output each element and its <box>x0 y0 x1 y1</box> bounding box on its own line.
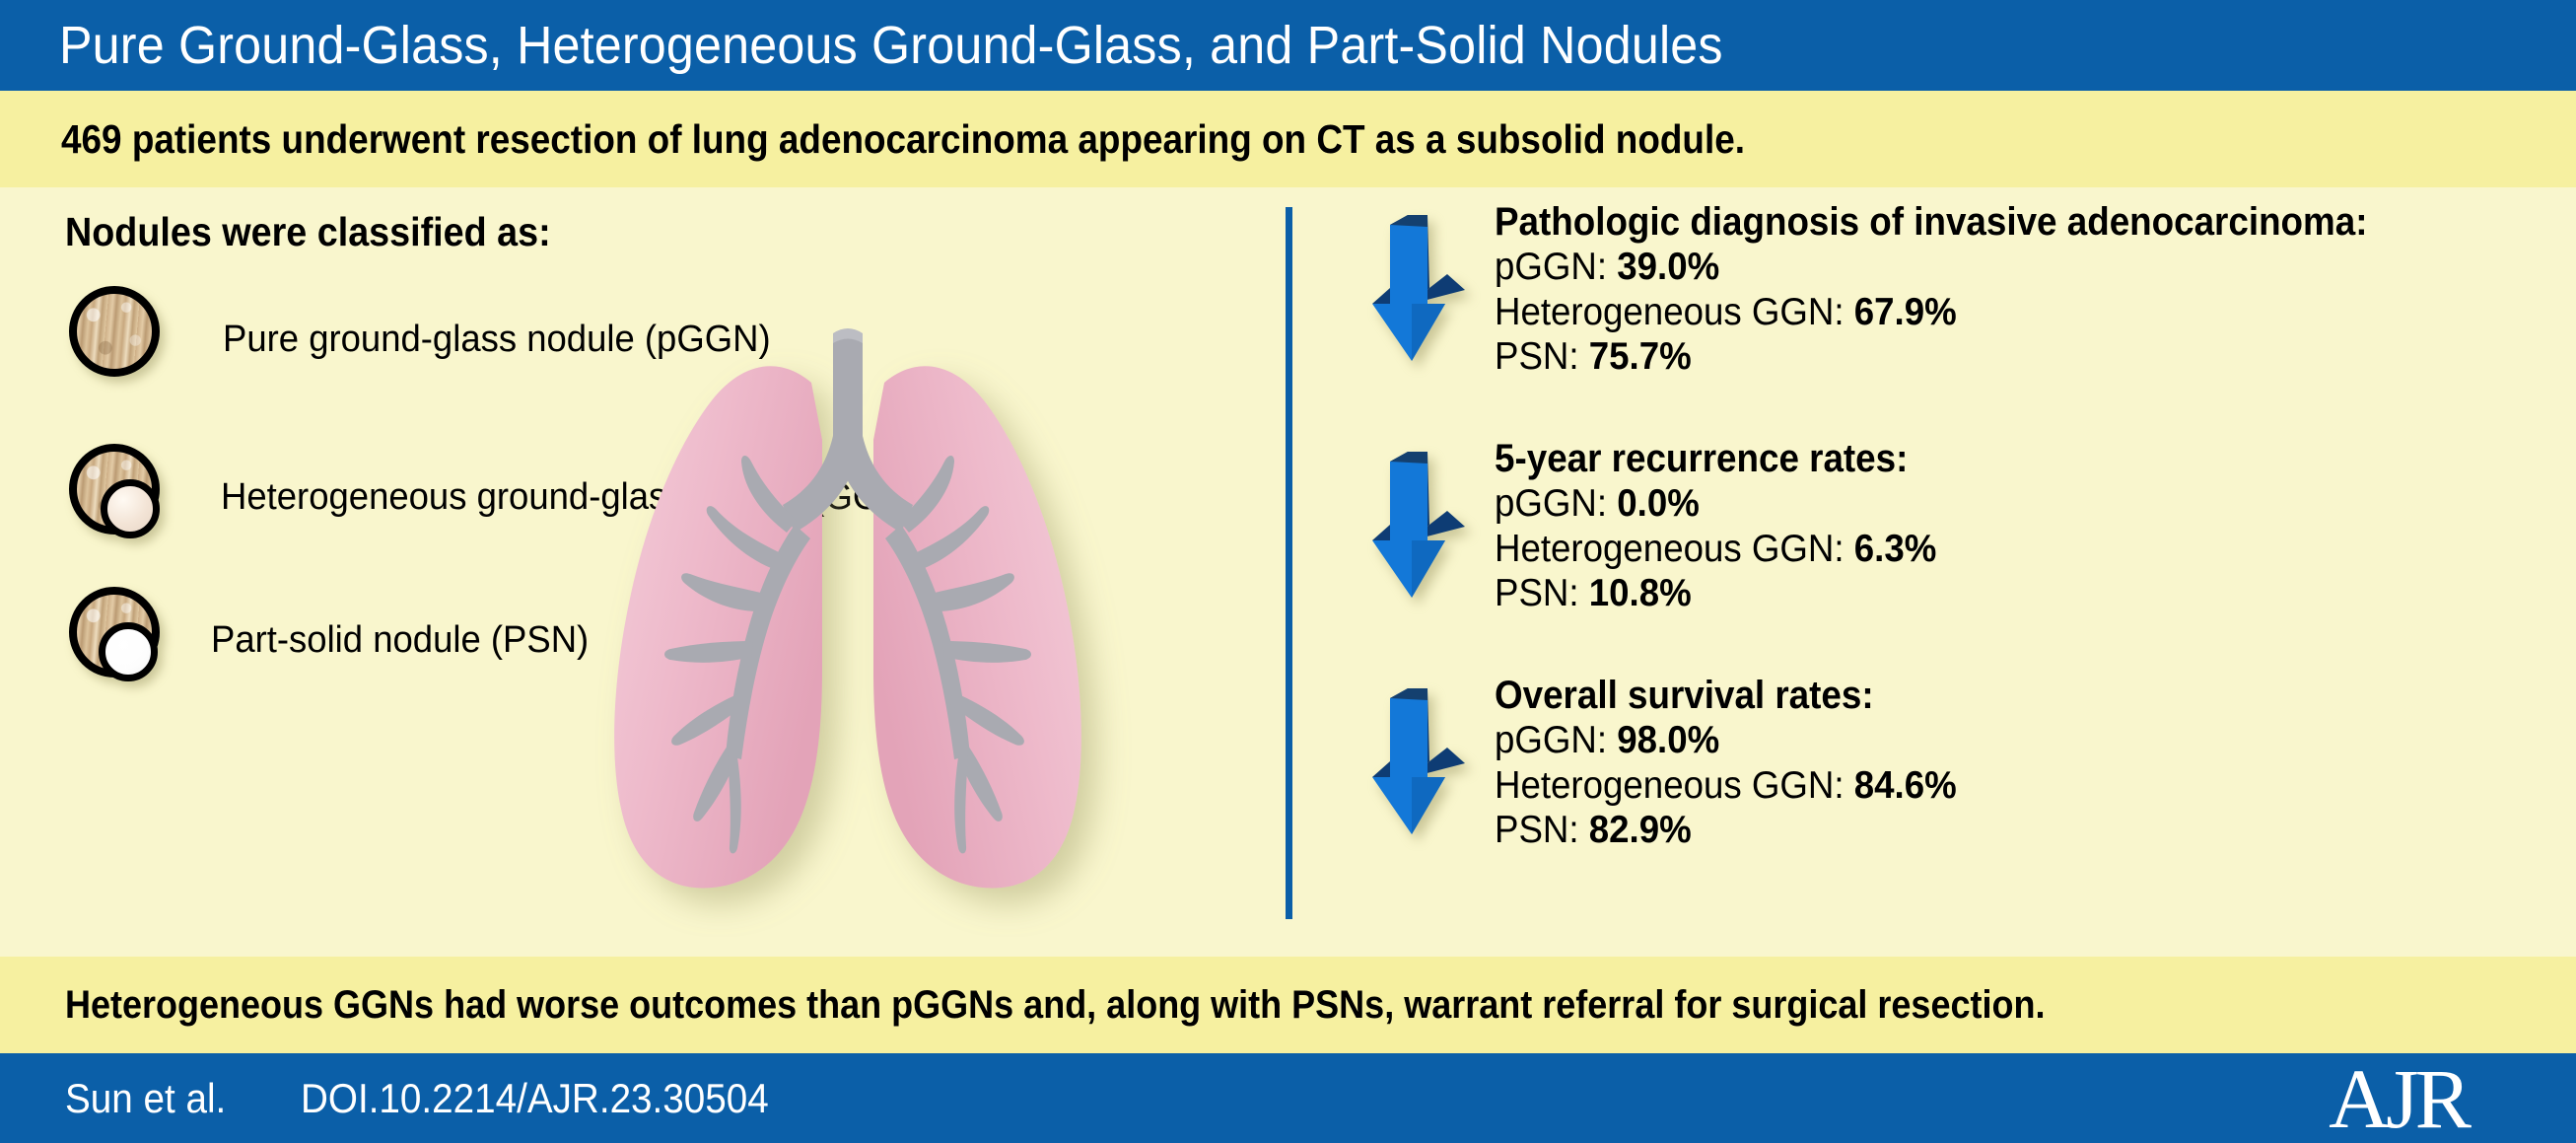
stat-row: pGGN: 98.0% <box>1495 718 1957 762</box>
list-item: Part-solid nodule (PSN) <box>69 587 604 693</box>
footer-doi[interactable]: DOI.10.2214/AJR.23.30504 <box>301 1075 769 1122</box>
stat-row: pGGN: 39.0% <box>1495 245 2387 289</box>
stat-row-value: 82.9% <box>1589 809 1692 851</box>
conclusion-band: Heterogeneous GGNs had worse outcomes th… <box>0 957 2576 1053</box>
right-column: Pathologic diagnosis of invasive adenoca… <box>1351 187 2534 957</box>
down-arrow-icon <box>1351 446 1469 604</box>
stat-row: Heterogeneous GGN: 84.6% <box>1495 763 1957 808</box>
stat-title: Pathologic diagnosis of invasive adenoca… <box>1495 199 2367 245</box>
stat-row-label: pGGN: <box>1495 246 1617 288</box>
stat-block: 5-year recurrence rates: pGGN: 0.0% Hete… <box>1351 436 1965 615</box>
stat-text-group: 5-year recurrence rates: pGGN: 0.0% Hete… <box>1495 436 1965 615</box>
stat-row: Heterogeneous GGN: 67.9% <box>1495 290 2387 334</box>
stat-row-value: 98.0% <box>1617 719 1719 761</box>
down-arrow-icon <box>1351 209 1469 367</box>
stat-text-group: Pathologic diagnosis of invasive adenoca… <box>1495 199 2443 379</box>
stat-row-label: PSN: <box>1495 572 1589 614</box>
stat-row: Heterogeneous GGN: 6.3% <box>1495 527 1936 571</box>
nodule-label: Pure ground-glass nodule (pGGN) <box>223 319 771 361</box>
stat-row: PSN: 82.9% <box>1495 808 1957 852</box>
patient-count: 469 <box>61 116 122 162</box>
heterogeneous-ground-glass-nodule-icon <box>69 444 175 550</box>
list-item: Heterogeneous ground-glass nodule (GGN) <box>69 444 947 550</box>
stat-title: 5-year recurrence rates: <box>1495 436 1927 481</box>
stat-block: Pathologic diagnosis of invasive adenoca… <box>1351 199 2443 379</box>
stat-row-label: pGGN: <box>1495 482 1617 525</box>
footer-authors: Sun et al. <box>65 1075 226 1122</box>
stat-title: Overall survival rates: <box>1495 673 1947 718</box>
stat-row-label: PSN: <box>1495 335 1589 378</box>
stat-row-value: 84.6% <box>1854 764 1957 807</box>
infographic-root: Pure Ground-Glass, Heterogeneous Ground-… <box>0 0 2576 1143</box>
part-solid-nodule-icon <box>69 587 175 693</box>
ajr-logo: AJR <box>2329 1056 2468 1141</box>
stat-row: pGGN: 0.0% <box>1495 481 1936 526</box>
stat-row-value: 67.9% <box>1854 291 1957 333</box>
main-content: Nodules were classified as: Pure ground-… <box>0 187 2576 957</box>
pure-ground-glass-nodule-icon <box>69 286 175 393</box>
stat-row-value: 10.8% <box>1589 572 1692 614</box>
nodule-solid-core <box>99 622 158 681</box>
footer-bar: Sun et al. DOI.10.2214/AJR.23.30504 AJR <box>0 1053 2576 1143</box>
study-population-text: 469 patients underwent resection of lung… <box>61 116 1745 163</box>
nodule-label: Heterogeneous ground-glass nodule (GGN) <box>221 476 919 519</box>
stat-row-value: 6.3% <box>1854 528 1937 570</box>
column-divider <box>1286 207 1292 919</box>
page-title: Pure Ground-Glass, Heterogeneous Ground-… <box>59 15 1723 76</box>
nodule-label: Part-solid nodule (PSN) <box>211 619 589 662</box>
bronchial-tree <box>664 328 1031 853</box>
nodule-inner-circle <box>101 479 160 538</box>
stat-row-label: PSN: <box>1495 809 1589 851</box>
stat-row-value: 39.0% <box>1617 246 1719 288</box>
stat-row: PSN: 10.8% <box>1495 571 1936 615</box>
stat-row-label: Heterogeneous GGN: <box>1495 764 1854 807</box>
stat-row: PSN: 75.7% <box>1495 334 2387 379</box>
subtitle-band: 469 patients underwent resection of lung… <box>0 91 2576 187</box>
stat-row-label: Heterogeneous GGN: <box>1495 291 1854 333</box>
stat-row-value: 0.0% <box>1617 482 1700 525</box>
classification-heading: Nodules were classified as: <box>65 209 551 255</box>
stat-row-label: pGGN: <box>1495 719 1617 761</box>
stat-block: Overall survival rates: pGGN: 98.0% Hete… <box>1351 673 1986 852</box>
nodule-outer-circle <box>69 286 160 377</box>
down-arrow-icon <box>1351 682 1469 840</box>
header-bar: Pure Ground-Glass, Heterogeneous Ground-… <box>0 0 2576 91</box>
stat-row-value: 75.7% <box>1589 335 1692 378</box>
list-item: Pure ground-glass nodule (pGGN) <box>69 286 794 393</box>
stat-row-label: Heterogeneous GGN: <box>1495 528 1854 570</box>
stat-text-group: Overall survival rates: pGGN: 98.0% Hete… <box>1495 673 1986 852</box>
left-column: Nodules were classified as: Pure ground-… <box>0 187 1282 957</box>
conclusion-text: Heterogeneous GGNs had worse outcomes th… <box>65 983 2045 1028</box>
